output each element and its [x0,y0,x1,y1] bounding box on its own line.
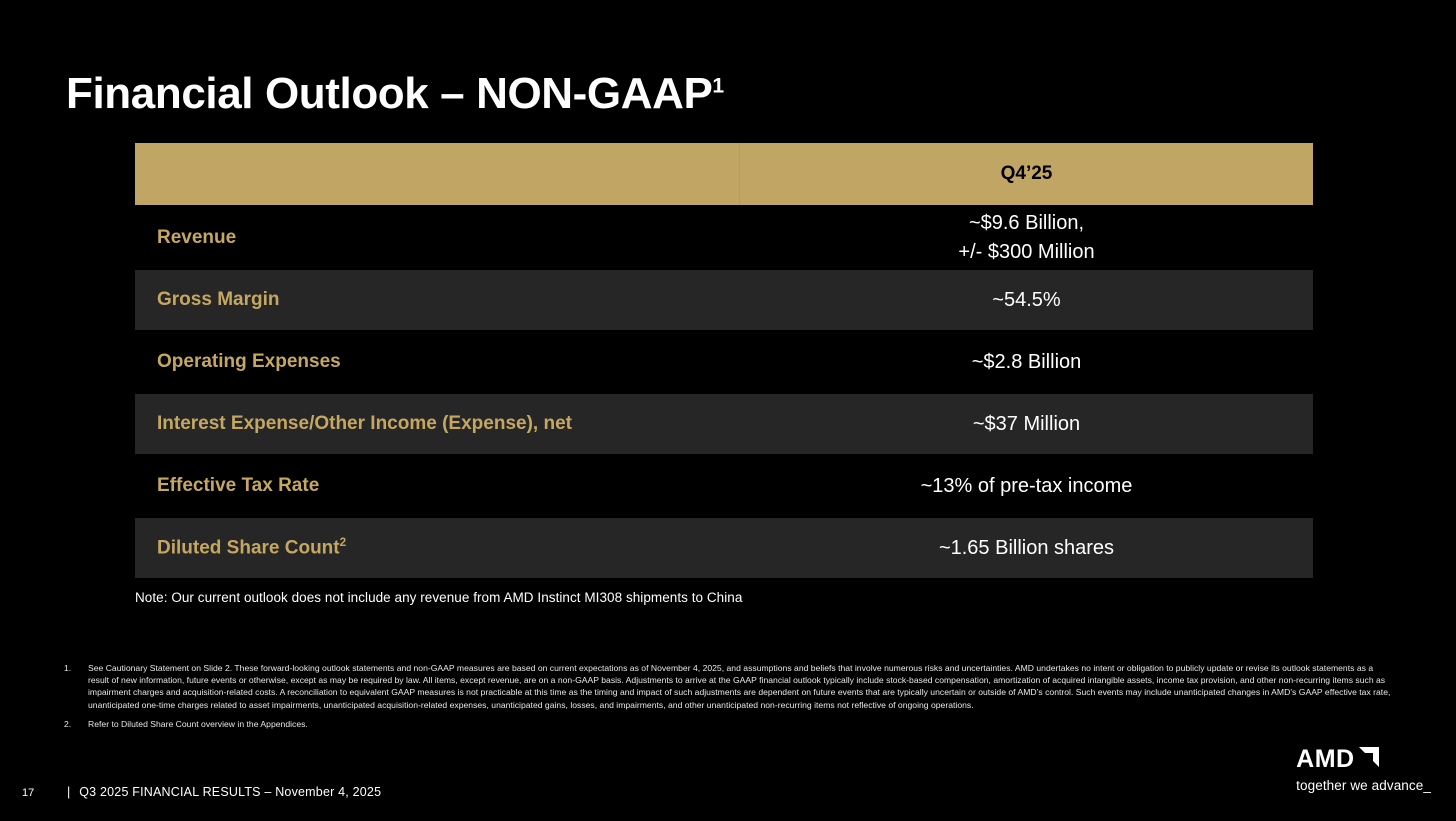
amd-wordmark-text: AMD [1296,747,1354,772]
row-value-gross-margin: ~54.5% [740,286,1313,314]
row-label-revenue: Revenue [135,227,740,249]
table-header-q4-25: Q4’25 [740,163,1313,185]
row-label-gross-margin: Gross Margin [135,289,740,311]
footnote-item: 1. See Cautionary Statement on Slide 2. … [64,662,1394,711]
row-label-text: Gross Margin [157,289,279,310]
table-note: Note: Our current outlook does not inclu… [135,590,742,605]
footer-separator: | [67,785,70,799]
table-header-row: Q4’25 [135,143,1313,205]
row-value-interest-expense: ~$37 Million [740,410,1313,438]
row-label-text: Diluted Share Count [157,538,340,559]
row-label-operating-expenses: Operating Expenses [135,351,740,373]
row-label-text: Interest Expense/Other Income (Expense),… [157,413,572,434]
row-value-operating-expenses: ~$2.8 Billion [740,348,1313,376]
slide-footer: 17 | Q3 2025 FINANCIAL RESULTS – Novembe… [22,785,381,799]
table-row: Diluted Share Count2 ~1.65 Billion share… [135,518,1313,578]
table-row: Operating Expenses ~$2.8 Billion [135,332,1313,392]
row-label-text: Effective Tax Rate [157,475,319,496]
row-label-diluted-share-count: Diluted Share Count2 [135,536,740,559]
table-row: Gross Margin ~54.5% [135,270,1313,330]
footnote-item: 2. Refer to Diluted Share Count overview… [64,718,1394,730]
row-value-diluted-share-count: ~1.65 Billion shares [740,534,1313,562]
footnote-number: 1. [64,662,88,711]
footnotes: 1. See Cautionary Statement on Slide 2. … [64,662,1394,737]
financial-outlook-table: Q4’25 Revenue ~$9.6 Billion, +/- $300 Mi… [135,143,1313,578]
page-title-superscript: 1 [712,74,723,97]
amd-logo: AMD together we advance_ [1296,746,1431,793]
page-title-text: Financial Outlook – NON-GAAP [66,69,712,118]
page-title: Financial Outlook – NON-GAAP1 [66,70,724,118]
row-value-revenue: ~$9.6 Billion, +/- $300 Million [740,209,1313,266]
row-label-text: Revenue [157,227,236,248]
row-label-superscript: 2 [340,536,347,549]
row-label-effective-tax-rate: Effective Tax Rate [135,475,740,497]
footnote-text: Refer to Diluted Share Count overview in… [88,718,1394,730]
table-row: Revenue ~$9.6 Billion, +/- $300 Million [135,207,1313,268]
page-number: 17 [22,787,67,799]
amd-wordmark: AMD [1296,746,1431,773]
footer-title: Q3 2025 FINANCIAL RESULTS – November 4, … [79,785,381,799]
amd-arrow-icon [1358,746,1380,773]
table-row: Effective Tax Rate ~13% of pre-tax incom… [135,456,1313,516]
table-row: Interest Expense/Other Income (Expense),… [135,394,1313,454]
row-value-effective-tax-rate: ~13% of pre-tax income [740,472,1313,500]
row-value-line: ~$9.6 Billion, [740,209,1313,237]
row-value-line: +/- $300 Million [740,238,1313,266]
amd-tagline: together we advance_ [1296,778,1431,793]
row-label-text: Operating Expenses [157,351,341,372]
footnote-text: See Cautionary Statement on Slide 2. The… [88,662,1394,711]
footnote-number: 2. [64,718,88,730]
table-header-label-cell [135,143,740,205]
row-label-interest-expense: Interest Expense/Other Income (Expense),… [135,413,740,435]
